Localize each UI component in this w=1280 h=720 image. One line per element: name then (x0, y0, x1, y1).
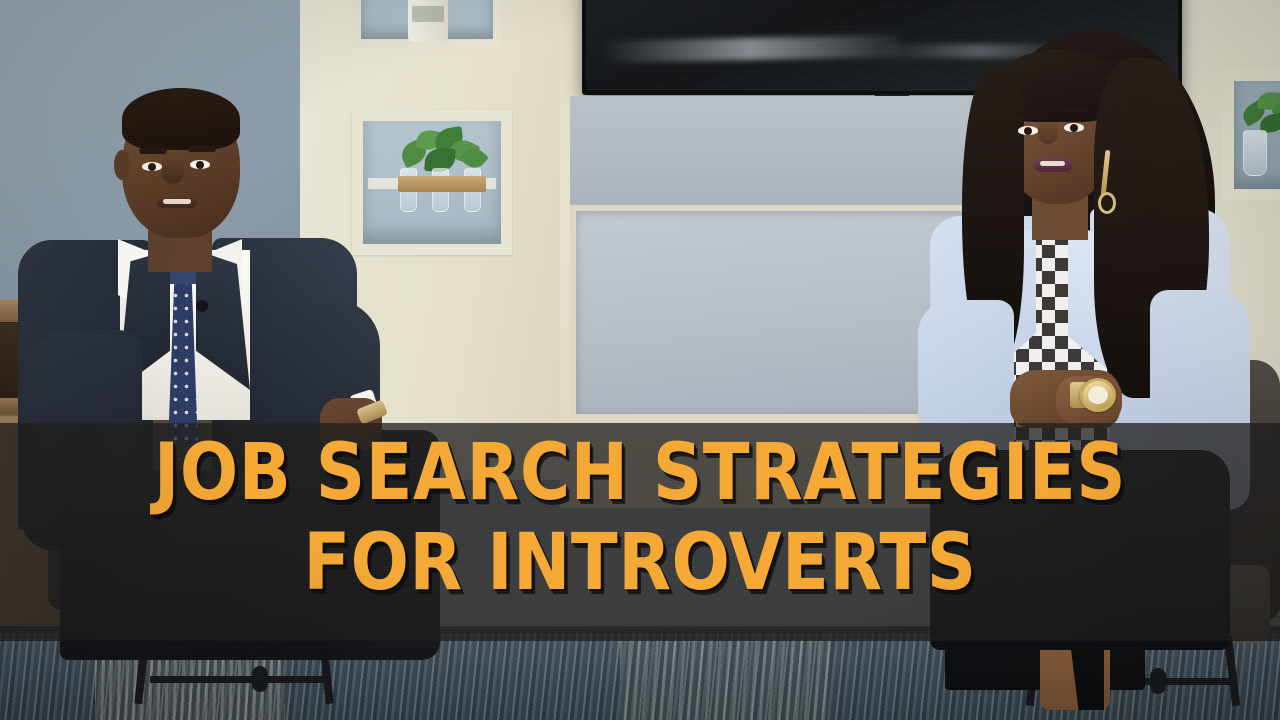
title-line-2: FOR INTROVERTS (77, 525, 1203, 601)
glass-vase-right (1243, 130, 1267, 176)
right-speaker-nose (1038, 120, 1058, 144)
left-speaker-eye (142, 162, 162, 171)
left-speaker-eyebrow (188, 146, 216, 152)
chair-right-fitting (1150, 668, 1166, 694)
left-speaker-nose (162, 158, 184, 184)
right-speaker-eye (1064, 123, 1084, 132)
left-speaker-hair (122, 88, 240, 150)
right-speaker-eye (1018, 126, 1038, 135)
left-speaker-lapel-microphone (196, 300, 208, 312)
left-speaker-teeth (163, 199, 191, 204)
carpet-patch (620, 640, 830, 720)
pot-label (412, 6, 444, 22)
title-block: JOB SEARCH STRATEGIES FOR INTROVERTS (0, 435, 1280, 602)
left-speaker-eyebrow (139, 148, 167, 154)
chair-left-fitting (252, 666, 268, 692)
right-speaker-teeth (1040, 161, 1065, 166)
chair-left-crossbar (150, 676, 330, 683)
wooden-vase-rack (398, 176, 486, 192)
right-speaker-watch-face (1088, 386, 1108, 404)
video-thumbnail: JOB SEARCH STRATEGIES FOR INTROVERTS (0, 0, 1280, 720)
right-speaker-earring-hoop (1098, 192, 1116, 214)
left-speaker-ear (114, 150, 130, 180)
title-line-1: JOB SEARCH STRATEGIES (77, 435, 1203, 511)
right-speaker-eyebrow (1062, 109, 1089, 115)
left-speaker-eye (190, 160, 210, 169)
right-speaker-eyebrow (1016, 112, 1043, 118)
